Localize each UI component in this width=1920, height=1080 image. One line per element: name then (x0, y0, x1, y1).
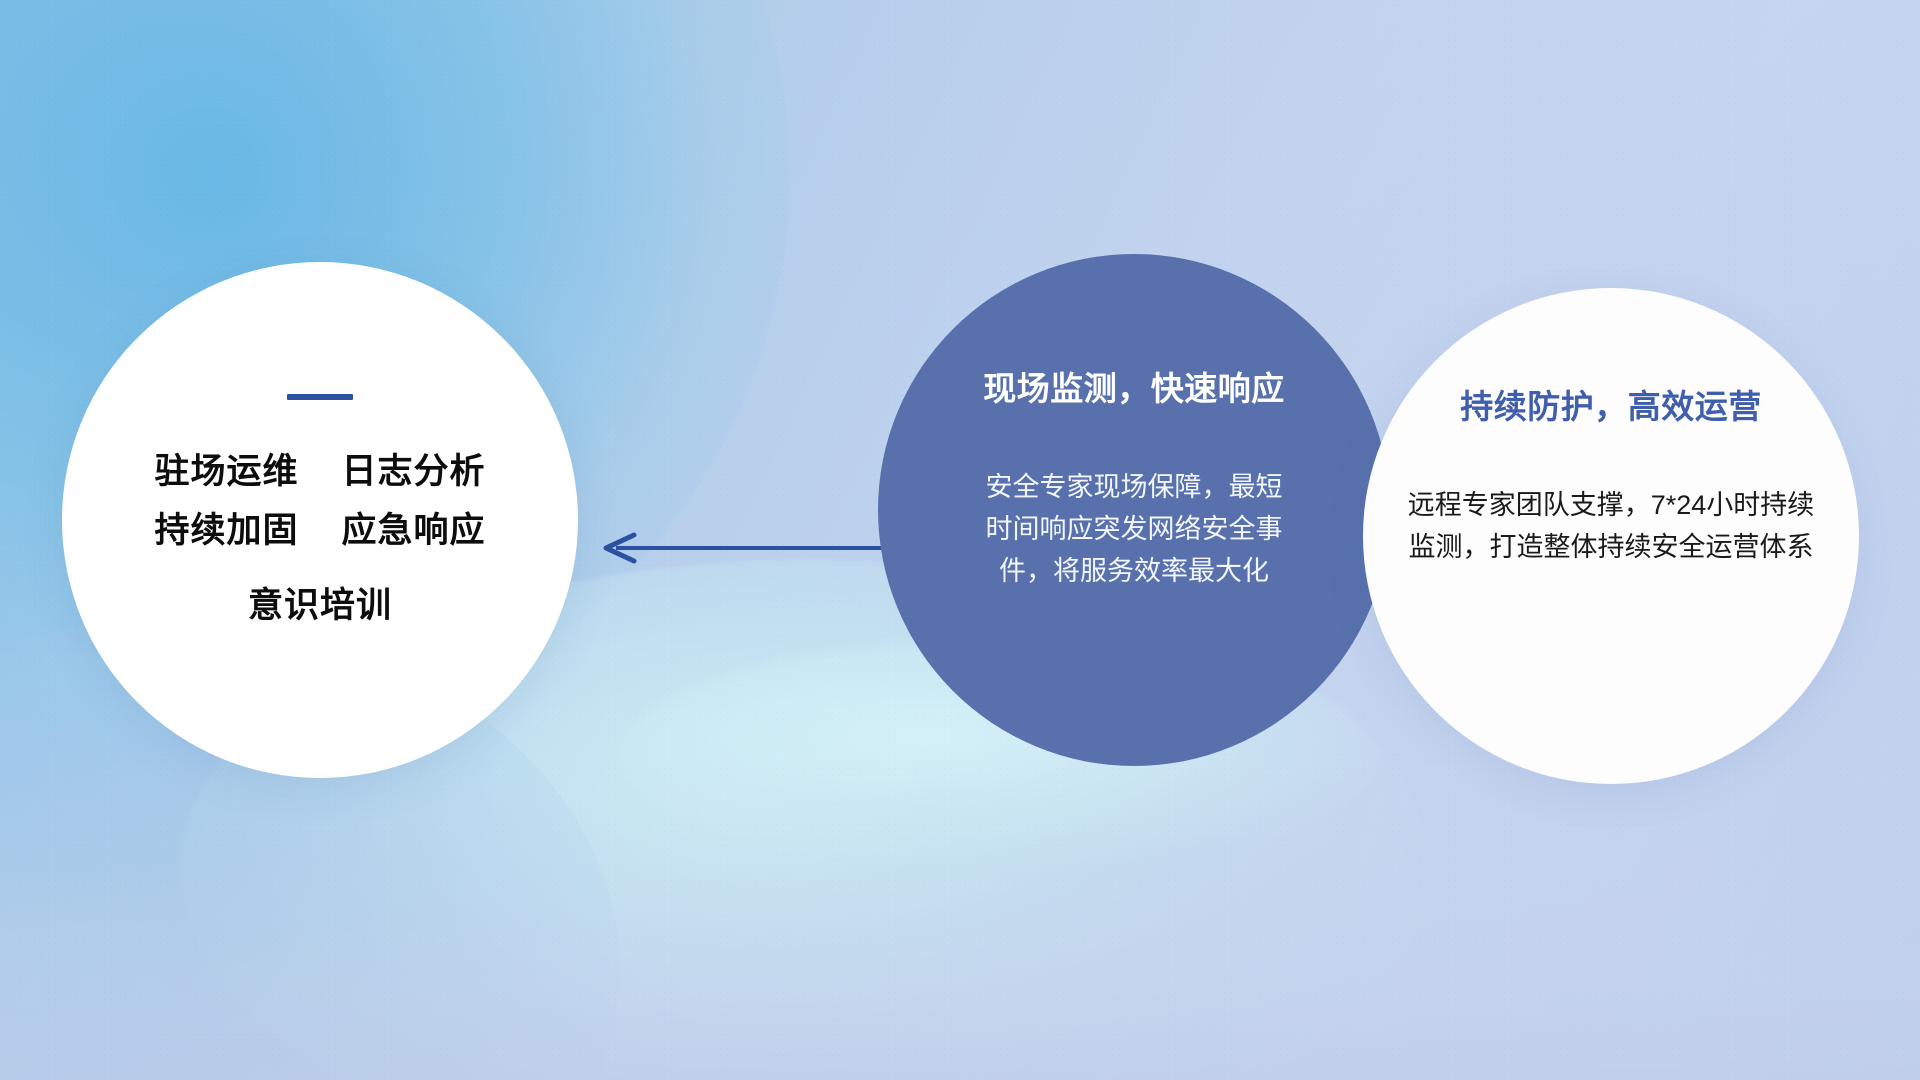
arrow-left-icon (596, 524, 888, 572)
continuous-protection-content: 持续防护，高效运营 远程专家团队支撑，7*24小时持续监测，打造整体持续安全运营… (1363, 288, 1859, 784)
continuous-protection-title: 持续防护，高效运营 (1460, 380, 1762, 428)
onsite-monitoring-body: 安全专家现场保障，最短时间响应突发网络安全事件，将服务效率最大化 (979, 466, 1289, 592)
divider-dash-icon (287, 394, 353, 400)
list-item: 持续加固 应急响应 (155, 511, 486, 550)
capabilities-circle: 驻场运维 日志分析 持续加固 应急响应 意识培训 (62, 262, 578, 778)
onsite-monitoring-title: 现场监测，快速响应 (983, 362, 1285, 410)
list-item: 驻场运维 日志分析 (155, 452, 486, 491)
capabilities-list: 驻场运维 日志分析 持续加固 应急响应 意识培训 (155, 452, 486, 626)
continuous-protection-body: 远程专家团队支撑，7*24小时持续监测，打造整体持续安全运营体系 (1404, 484, 1818, 568)
onsite-monitoring-circle: 现场监测，快速响应 安全专家现场保障，最短时间响应突发网络安全事件，将服务效率最… (878, 254, 1390, 766)
capabilities-content: 驻场运维 日志分析 持续加固 应急响应 意识培训 (62, 262, 578, 778)
continuous-protection-circle: 持续防护，高效运营 远程专家团队支撑，7*24小时持续监测，打造整体持续安全运营… (1363, 288, 1859, 784)
list-item: 意识培训 (248, 586, 392, 625)
onsite-monitoring-content: 现场监测，快速响应 安全专家现场保障，最短时间响应突发网络安全事件，将服务效率最… (878, 254, 1390, 766)
